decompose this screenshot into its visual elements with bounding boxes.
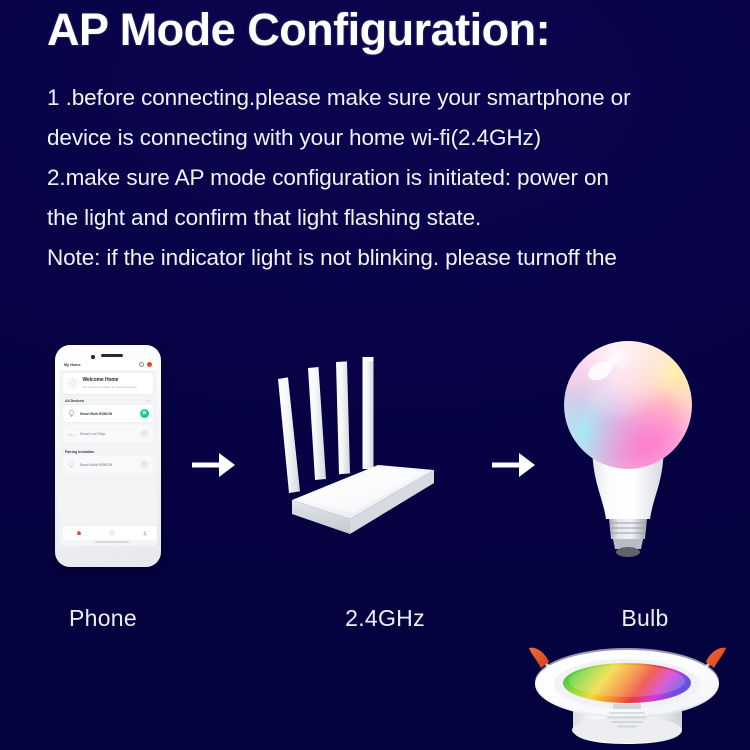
caption-phone: Phone [38, 605, 168, 632]
weather-sun-icon [67, 377, 79, 389]
section-header-pairing-invitation: Pairing Invitation › [59, 445, 157, 456]
instruction-line-5: Note: if the indicator light is not blin… [47, 238, 717, 278]
device-name: Smart Bulb RGBCW [80, 412, 136, 416]
arrow-right-icon [492, 450, 536, 480]
section-more-icon[interactable]: ••• [145, 398, 151, 403]
device-power-toggle[interactable] [140, 429, 149, 438]
device-power-toggle[interactable] [140, 460, 149, 469]
welcome-text: Welcome Home Set your home location for … [83, 377, 150, 389]
device-name: Smart Bulb RGBCW [80, 463, 136, 467]
led-strip-icon [67, 429, 76, 438]
add-device-icon[interactable] [147, 362, 152, 367]
caption-bulb: Bulb [590, 605, 700, 632]
home-name-selector[interactable]: My Home [64, 363, 81, 367]
instruction-line-2: device is connecting with your home wi-f… [47, 118, 717, 158]
instructions-block: 1 .before connecting.please make sure yo… [47, 78, 717, 278]
product-info-page: AP Mode Configuration: 1 .before connect… [0, 0, 750, 750]
page-title: AP Mode Configuration: [47, 4, 550, 56]
welcome-title: Welcome Home [83, 377, 150, 383]
welcome-subtitle: Set your home location for more informat… [83, 385, 150, 389]
section-title: Pairing Invitation [65, 450, 94, 454]
profile-icon[interactable] [142, 530, 148, 536]
phone-camera-icon [91, 355, 95, 359]
bulb-icon [67, 460, 76, 469]
instruction-line-4: the light and confirm that light flashin… [47, 198, 717, 238]
smart-scene-icon[interactable] [109, 530, 115, 536]
app-topbar: My Home [59, 359, 157, 370]
rgb-downlight-icon [505, 634, 750, 750]
bulb-icon [67, 409, 76, 418]
section-title: All Devices [65, 399, 84, 403]
device-power-toggle[interactable] [140, 409, 149, 418]
instruction-line-1: 1 .before connecting.please make sure yo… [47, 78, 717, 118]
caption-router: 2.4GHz [310, 605, 460, 632]
arrow-right-icon [192, 450, 236, 480]
section-header-all-devices: All Devices ••• [59, 394, 157, 405]
home-icon[interactable] [76, 530, 82, 536]
chevron-right-icon[interactable]: › [149, 449, 151, 454]
list-item[interactable]: Smart Bulb RGBCW [63, 405, 153, 422]
scan-icon[interactable] [139, 362, 144, 367]
app-bottom-nav [63, 525, 157, 540]
list-item[interactable]: Smart Led Strip [63, 425, 153, 442]
instruction-line-3: 2.make sure AP mode configuration is ini… [47, 158, 717, 198]
rgb-smart-bulb-icon [556, 333, 701, 565]
phone-speaker-icon [101, 354, 123, 357]
device-name: Smart Led Strip [80, 432, 136, 436]
welcome-card[interactable]: Welcome Home Set your home location for … [63, 373, 153, 394]
topbar-actions [139, 362, 152, 367]
list-item[interactable]: Smart Bulb RGBCW [63, 456, 153, 473]
phone-mockup: My Home [55, 345, 161, 567]
wifi-router-icon [258, 352, 448, 557]
phone-home-indicator [95, 541, 129, 543]
phone-screen: My Home [59, 359, 157, 546]
